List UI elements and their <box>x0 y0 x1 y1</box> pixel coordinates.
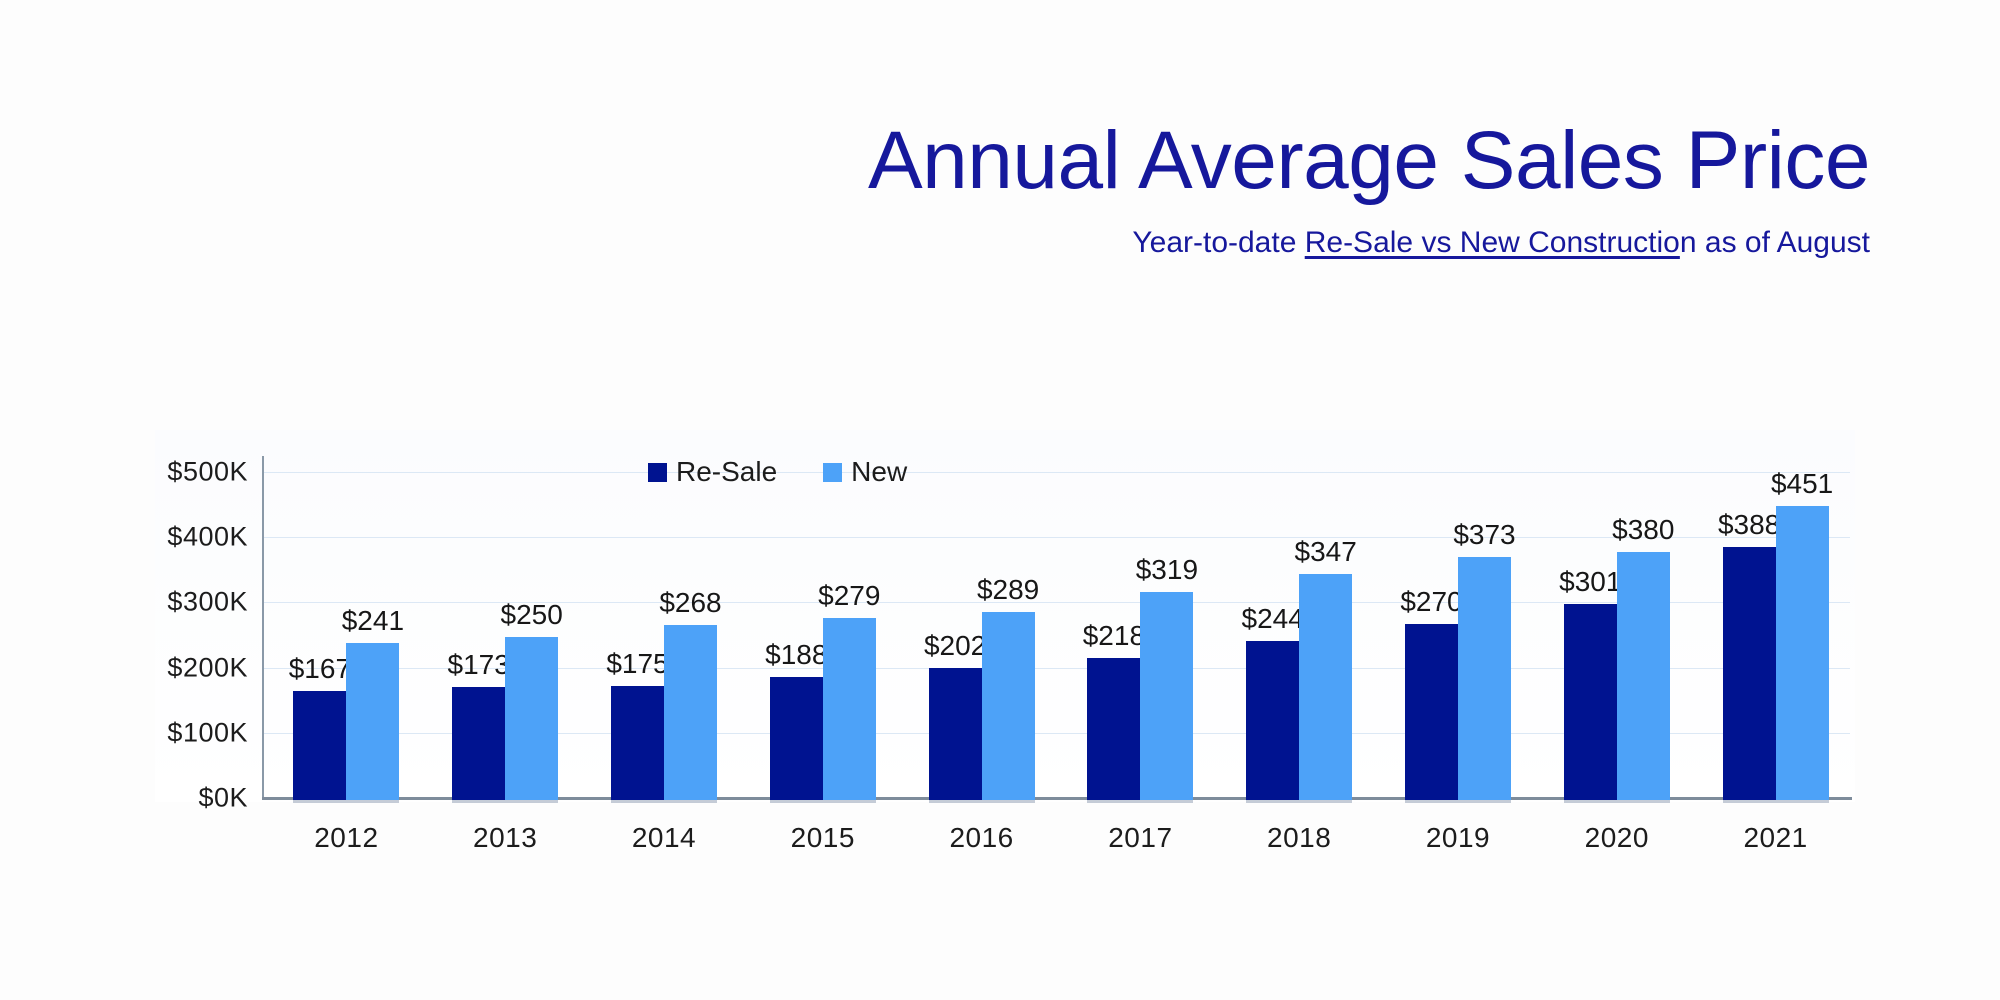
bar-new-2015[interactable] <box>823 618 876 800</box>
bar-new-2021[interactable] <box>1776 506 1829 800</box>
bar-group: $388$451 <box>1723 432 1829 800</box>
x-axis-tick-label: 2020 <box>1542 822 1692 854</box>
bar-group: $202$289 <box>929 432 1035 800</box>
bar-re-sale-2013[interactable] <box>452 687 505 800</box>
bar-new-2013[interactable] <box>505 637 558 800</box>
x-axis-tick-label: 2021 <box>1701 822 1851 854</box>
bar-value-label: $279 <box>794 582 904 610</box>
bar-new-2014[interactable] <box>664 625 717 800</box>
bar-group: $175$268 <box>611 432 717 800</box>
bar-new-2016[interactable] <box>982 612 1035 800</box>
chart-page: Annual Average Sales Price Year-to-date … <box>0 0 2000 1000</box>
bar-group: $301$380 <box>1564 432 1670 800</box>
bar-value-label: $380 <box>1588 516 1698 544</box>
x-axis-tick-label: 2013 <box>430 822 580 854</box>
x-axis-tick-label: 2014 <box>589 822 739 854</box>
bar-group: $167$241 <box>293 432 399 800</box>
x-axis-tick-label: 2016 <box>907 822 1057 854</box>
page-title: Annual Average Sales Price <box>0 120 1870 202</box>
x-axis-tick-label: 2015 <box>748 822 898 854</box>
x-axis-tick-label: 2017 <box>1065 822 1215 854</box>
bars-layer: $167$241$173$250$175$268$188$279$202$289… <box>262 430 1852 800</box>
bar-value-label: $241 <box>318 607 428 635</box>
bar-new-2017[interactable] <box>1140 592 1193 800</box>
y-axis-tick-label: $100K <box>88 717 248 748</box>
bar-group: $244$347 <box>1246 432 1352 800</box>
subtitle-prefix: Year-to-date <box>1132 226 1304 259</box>
y-axis-tick-label: $200K <box>88 652 248 683</box>
bar-re-sale-2018[interactable] <box>1246 641 1299 800</box>
bar-re-sale-2016[interactable] <box>929 668 982 800</box>
bar-value-label: $268 <box>636 589 746 617</box>
bar-value-label: $373 <box>1430 521 1540 549</box>
y-axis-tick-label: $300K <box>88 587 248 618</box>
title-block: Annual Average Sales Price Year-to-date … <box>0 120 1870 260</box>
bar-value-label: $289 <box>953 576 1063 604</box>
bar-new-2018[interactable] <box>1299 574 1352 800</box>
bar-new-2019[interactable] <box>1458 557 1511 800</box>
y-axis-tick-label: $400K <box>88 522 248 553</box>
bar-value-label: $347 <box>1271 538 1381 566</box>
y-axis-tick-label: $500K <box>88 457 248 488</box>
bar-re-sale-2012[interactable] <box>293 691 346 800</box>
bar-value-label: $250 <box>477 601 587 629</box>
x-axis-tick-label: 2012 <box>271 822 421 854</box>
bar-new-2020[interactable] <box>1617 552 1670 800</box>
bar-group: $188$279 <box>770 432 876 800</box>
x-axis-tick-label: 2019 <box>1383 822 1533 854</box>
bar-group: $270$373 <box>1405 432 1511 800</box>
bar-re-sale-2020[interactable] <box>1564 604 1617 800</box>
bar-re-sale-2014[interactable] <box>611 686 664 800</box>
bar-value-label: $451 <box>1747 470 1857 498</box>
page-subtitle: Year-to-date Re-Sale vs New Construction… <box>0 202 1870 260</box>
y-axis-tick-label: $0K <box>88 783 248 814</box>
bar-new-2012[interactable] <box>346 643 399 800</box>
subtitle-suffix: n as of August <box>1680 226 1870 259</box>
x-axis-tick-label: 2018 <box>1224 822 1374 854</box>
subtitle-underlined: Re-Sale vs New Constructio <box>1305 226 1680 259</box>
bar-re-sale-2015[interactable] <box>770 677 823 800</box>
bar-re-sale-2021[interactable] <box>1723 547 1776 800</box>
bar-group: $218$319 <box>1087 432 1193 800</box>
bar-group: $173$250 <box>452 432 558 800</box>
bar-value-label: $319 <box>1112 556 1222 584</box>
bar-re-sale-2017[interactable] <box>1087 658 1140 800</box>
bar-re-sale-2019[interactable] <box>1405 624 1458 800</box>
